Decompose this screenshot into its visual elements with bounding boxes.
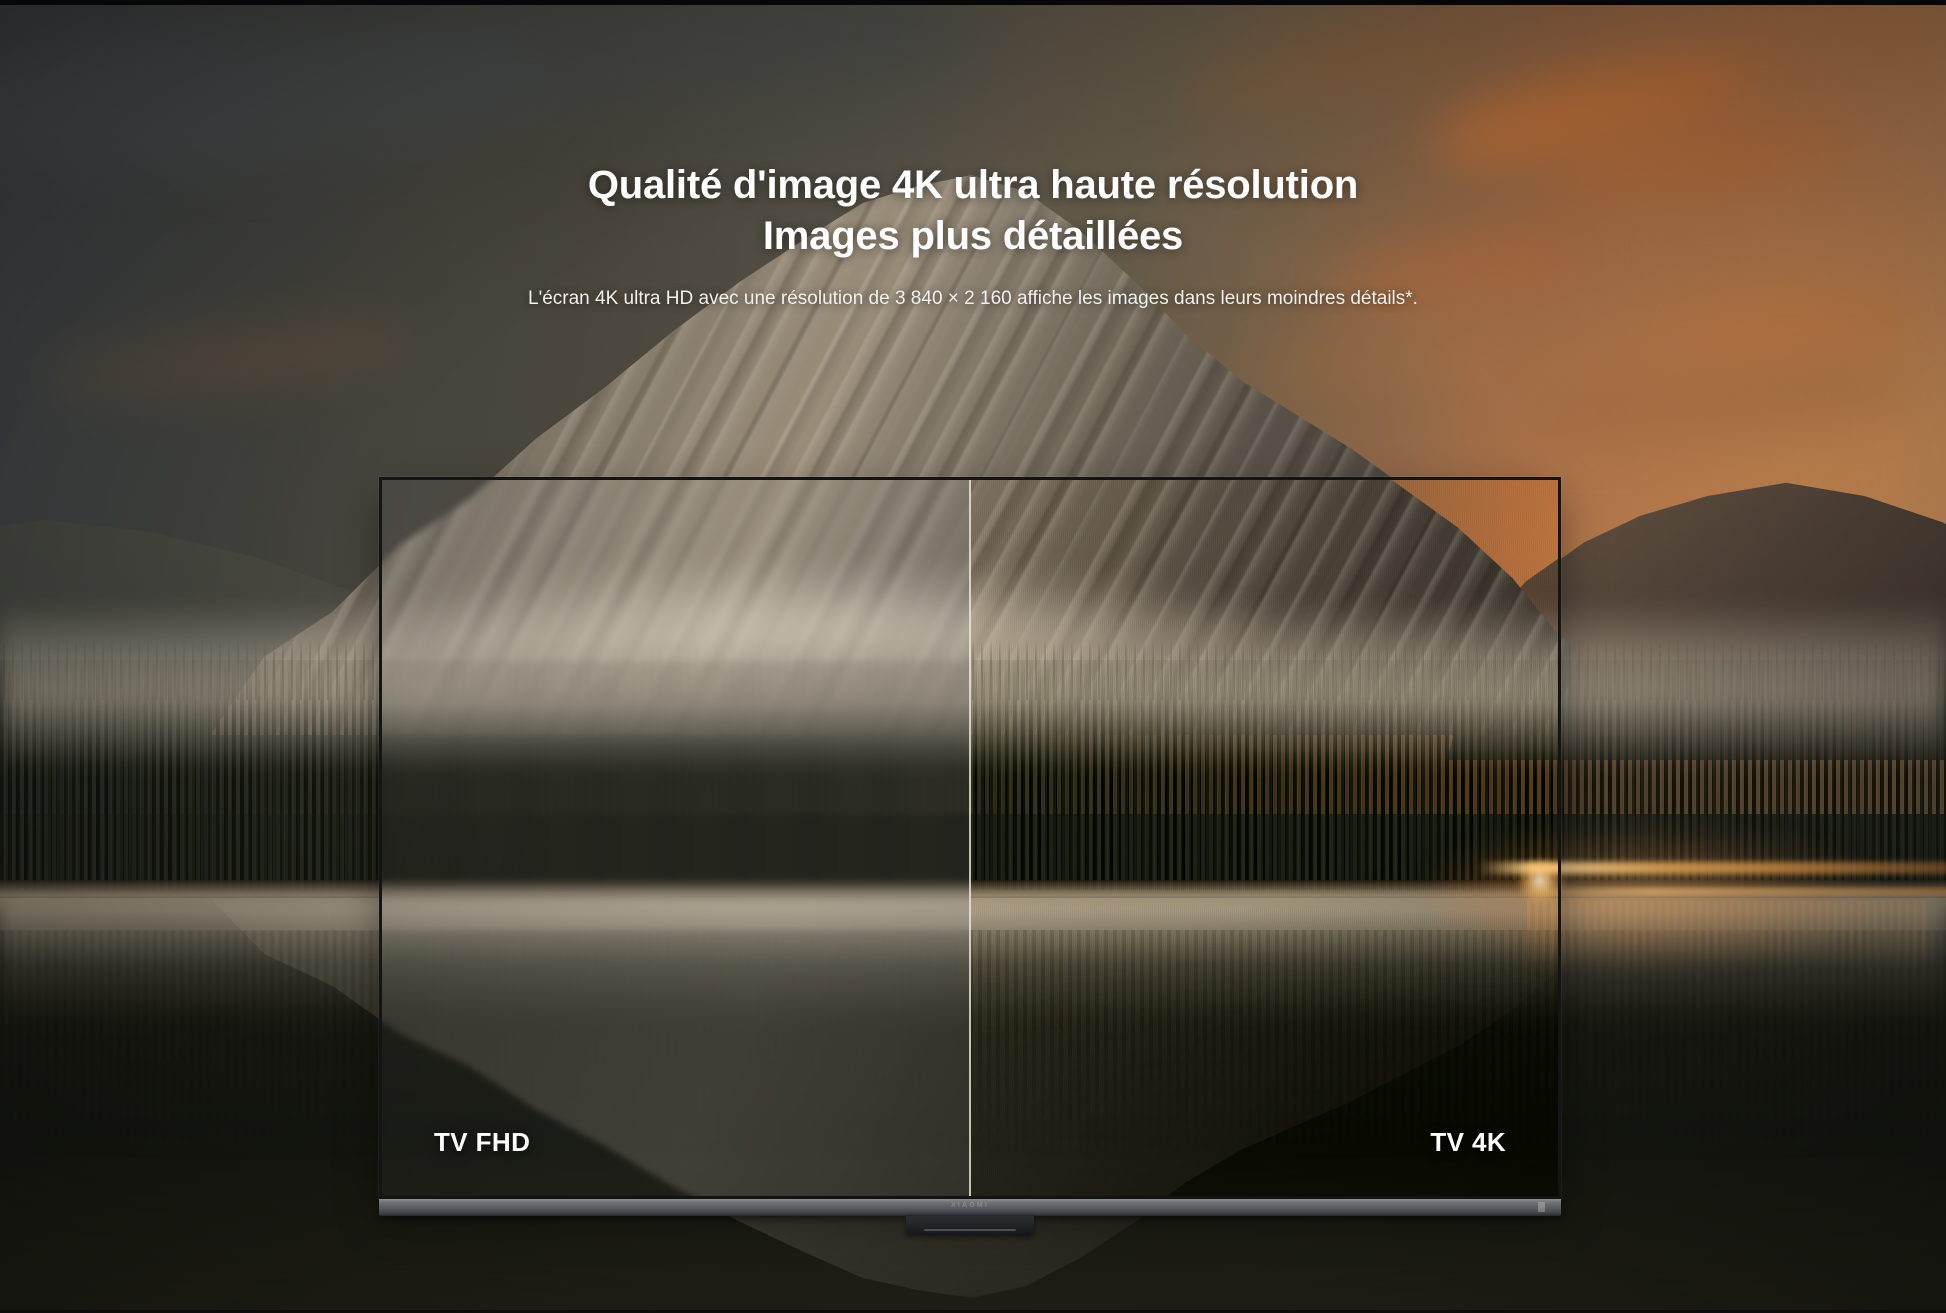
- tv-stand: [906, 1216, 1034, 1235]
- top-letterbox-bar: [0, 0, 1946, 5]
- promo-banner: TV FHD TV 4K XIAOMI Qualité d'image 4K u…: [0, 0, 1946, 1313]
- comparison-divider: [969, 480, 971, 1196]
- brand-logo: XIAOMI: [951, 1202, 989, 1209]
- fhd-half: [382, 480, 970, 1196]
- fhd-label: TV FHD: [434, 1127, 530, 1158]
- rectangle-mark-icon: [1538, 1202, 1545, 1212]
- fhd-scene: [382, 480, 970, 1196]
- tv-screen: TV FHD TV 4K: [379, 477, 1561, 1199]
- 4k-scene: [970, 480, 1558, 1196]
- tv-comparison: TV FHD TV 4K XIAOMI: [379, 477, 1561, 1235]
- 4k-half: [970, 480, 1558, 1196]
- 4k-label: TV 4K: [1430, 1127, 1506, 1158]
- tv-bezel: XIAOMI: [379, 1199, 1561, 1216]
